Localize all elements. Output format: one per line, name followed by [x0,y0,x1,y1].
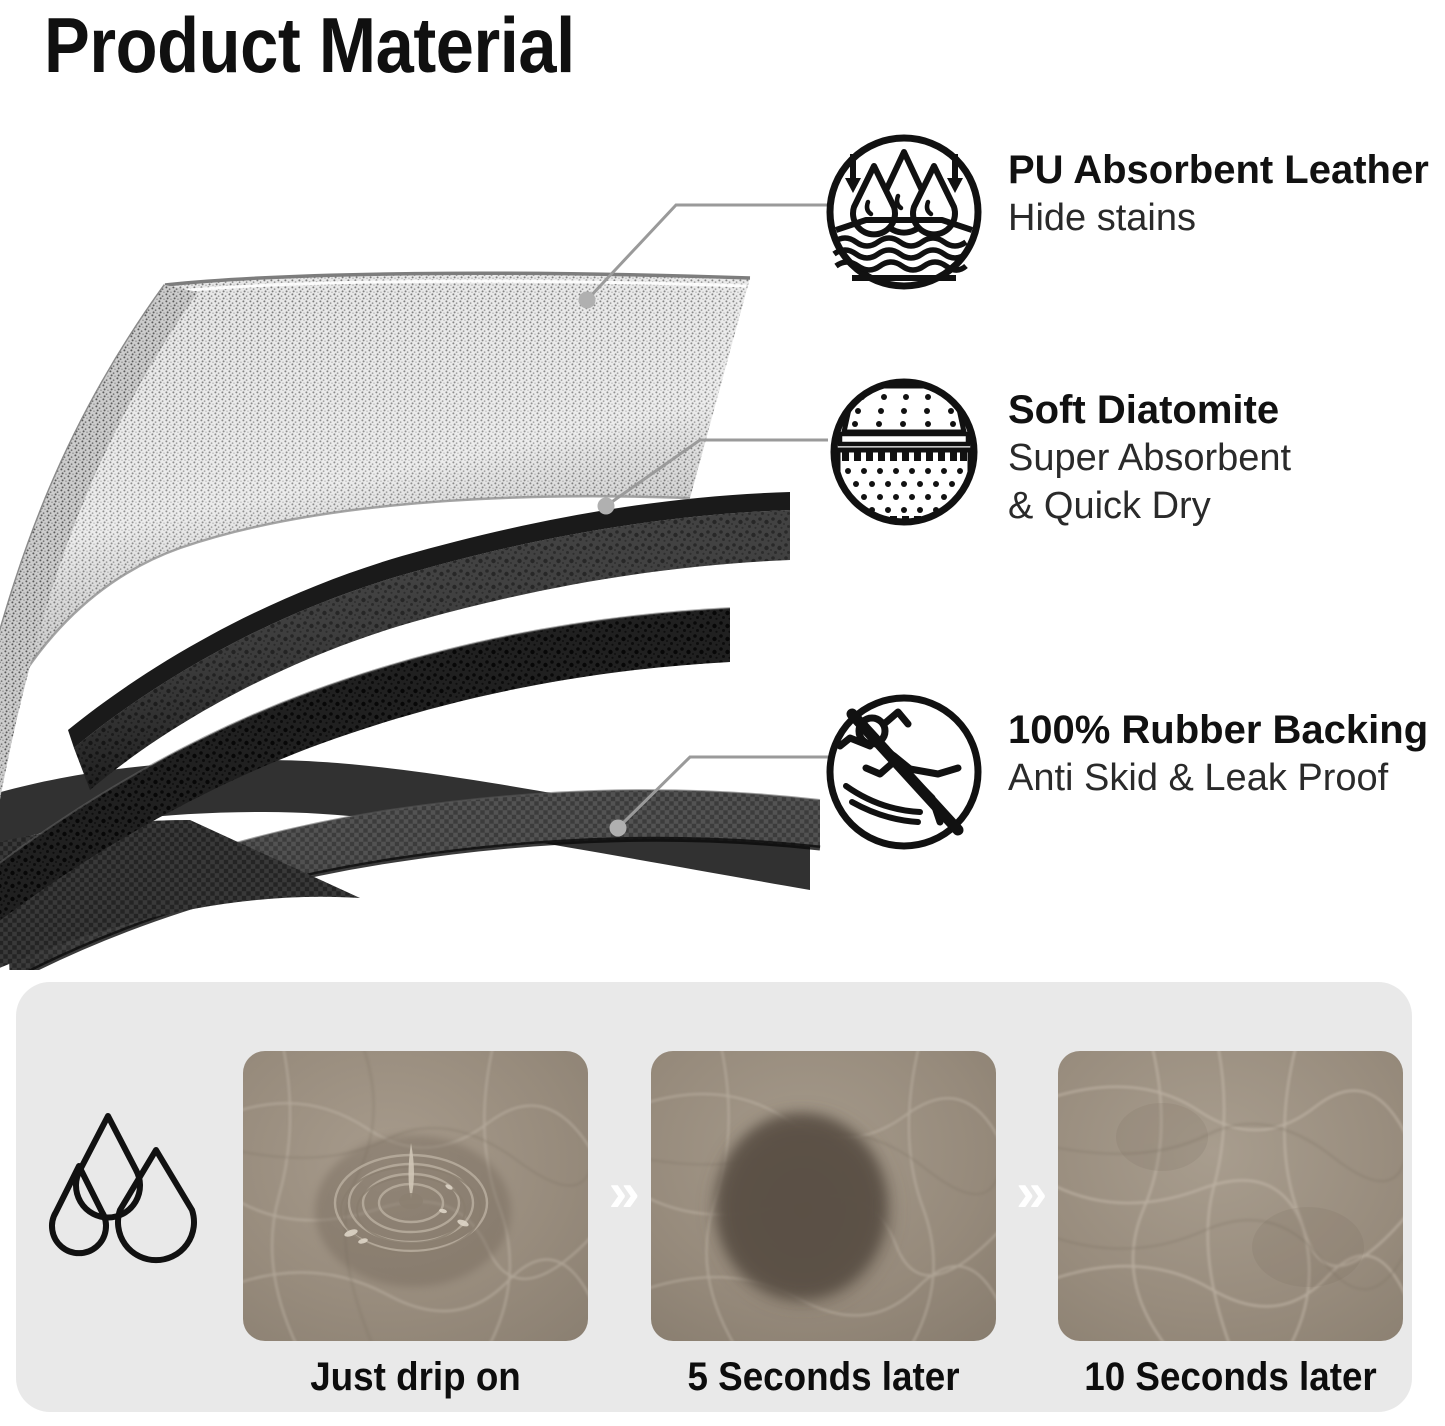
step-tile-10-seconds-later [1058,1051,1403,1341]
step-tile-column [651,1051,996,1341]
feature-title: PU Absorbent Leather [1008,146,1429,194]
step-tile-5-seconds-later [651,1051,996,1341]
feature-diatomite-text: Soft Diatomite Super Absorbent & Quick D… [1008,370,1291,530]
feature-title: 100% Rubber Backing [1008,706,1428,754]
diatomite-layer-icon [822,370,986,534]
step-tile-just-drip-on [243,1051,588,1341]
product-layers-illustration [0,230,840,970]
step-tile-column [1058,1051,1403,1341]
step-label: 5 Seconds later [664,1352,981,1402]
feature-soft-diatomite: Soft Diatomite Super Absorbent & Quick D… [822,370,1291,534]
feature-subtitle-line: Anti Skid & Leak Proof [1008,754,1428,802]
feature-subtitle-line: Super Absorbent [1008,434,1291,482]
feature-subtitle-line: & Quick Dry [1008,482,1291,530]
water-drops-icon [46,1108,216,1273]
water-absorption-icon [822,130,986,294]
feature-subtitle-line: Hide stains [1008,194,1429,242]
chevron-separator-icon: » [588,1164,651,1228]
feature-pu-text: PU Absorbent Leather Hide stains [1008,130,1429,242]
step-tile-column [243,1051,588,1341]
feature-rubber-text: 100% Rubber Backing Anti Skid & Leak Pro… [1008,690,1428,802]
anti-slip-icon [822,690,986,854]
absorption-step-labels: Just drip on 5 Seconds later 10 Seconds … [243,1352,1403,1416]
feature-title: Soft Diatomite [1008,386,1291,434]
step-label: 10 Seconds later [1072,1352,1389,1402]
step-label: Just drip on [257,1352,574,1402]
chevron-separator-icon: » [996,1164,1059,1228]
absorption-step-tiles: » [243,1046,1403,1346]
feature-rubber-backing: 100% Rubber Backing Anti Skid & Leak Pro… [822,690,1428,854]
page-title: Product Material [44,2,575,88]
feature-pu-absorbent-leather: PU Absorbent Leather Hide stains [822,130,1429,294]
